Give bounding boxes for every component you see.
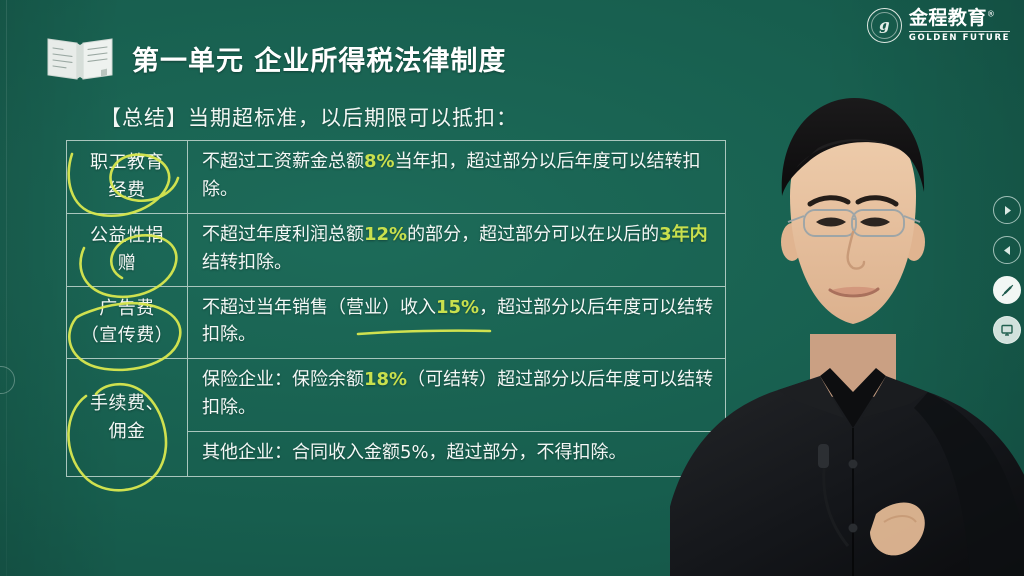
row-label: 公益性捐赠 xyxy=(67,213,188,286)
row-label-line2: 佣金 xyxy=(71,418,183,446)
page-title: 第一单元 企业所得税法律制度 xyxy=(132,39,506,78)
content-text: 的部分，超过部分可以在以后的 xyxy=(407,224,659,245)
row-content: 其他企业：合同收入金额5%，超过部分，不得扣除。 xyxy=(188,432,726,477)
row-content: 不超过工资薪金总额8%当年扣，超过部分以后年度可以结转扣除。 xyxy=(188,141,726,214)
row-label-line2: 经费 xyxy=(71,177,183,205)
table-row: 广告费（宣传费）不超过当年销售（营业）收入15%，超过部分以后年度可以结转扣除。 xyxy=(67,286,726,359)
screen-capture-button[interactable] xyxy=(993,316,1021,344)
brand-emblem-icon: g xyxy=(867,8,902,43)
content-text: 不超过工资薪金总额 xyxy=(202,151,364,172)
deduction-summary-table: 职工教育经费不超过工资薪金总额8%当年扣，超过部分以后年度可以结转扣除。公益性捐… xyxy=(66,140,726,477)
row-label-line1: 手续费、 xyxy=(90,393,164,414)
row-label: 广告费（宣传费） xyxy=(67,286,188,359)
row-content: 不超过当年销售（营业）收入15%，超过部分以后年度可以结转扣除。 xyxy=(188,286,726,359)
pen-annotate-button[interactable] xyxy=(993,276,1021,304)
play-triangle-left-icon xyxy=(1002,245,1013,256)
brand-logo: g 金程教育® GOLDEN FUTURE xyxy=(867,8,1010,43)
slide-header: 第一单元 企业所得税法律制度 xyxy=(44,33,506,83)
slide-subtitle: 【总结】当期超标准，以后期限可以抵扣： xyxy=(100,102,518,132)
highlighted-value: 15% xyxy=(436,297,479,318)
content-text: 不超过年度利润总额 xyxy=(202,224,364,245)
row-label-line1: 公益性捐 xyxy=(90,225,164,246)
row-label-line2: 赠 xyxy=(71,250,183,278)
row-label-line1: 广告费 xyxy=(99,298,155,319)
highlighted-value: 8% xyxy=(364,151,395,172)
row-label-line2: （宣传费） xyxy=(71,322,183,350)
registered-mark: ® xyxy=(987,9,996,18)
slide-controls-toolbar[interactable] xyxy=(993,196,1021,344)
content-text: 结转扣除。 xyxy=(202,252,292,273)
row-content: 不超过年度利润总额12%的部分，超过部分可以在以后的3年内结转扣除。 xyxy=(188,213,726,286)
instructor-video-overlay xyxy=(670,46,1024,576)
highlighted-value: 12% xyxy=(364,224,407,245)
play-triangle-right-icon xyxy=(1002,205,1013,216)
brand-name-cn: 金程教育® xyxy=(909,9,996,28)
row-content: 保险企业：保险余额18%（可结转）超过部分以后年度可以结转扣除。 xyxy=(188,359,726,432)
monitor-icon xyxy=(1000,323,1014,337)
row-label-line1: 职工教育 xyxy=(90,152,164,173)
left-rail-divider xyxy=(6,0,7,576)
table-row: 职工教育经费不超过工资薪金总额8%当年扣，超过部分以后年度可以结转扣除。 xyxy=(67,141,726,214)
row-label: 职工教育经费 xyxy=(67,141,188,214)
prev-slide-button[interactable] xyxy=(993,236,1021,264)
content-text: 其他企业：合同收入金额5%，超过部分，不得扣除。 xyxy=(202,442,627,463)
table-row: 公益性捐赠不超过年度利润总额12%的部分，超过部分可以在以后的3年内结转扣除。 xyxy=(67,213,726,286)
open-book-icon xyxy=(44,33,116,83)
row-label: 手续费、佣金 xyxy=(67,359,188,477)
pen-icon xyxy=(1000,283,1015,298)
brand-name-en: GOLDEN FUTURE xyxy=(909,31,1010,43)
content-text: 保险企业：保险余额 xyxy=(202,369,364,390)
content-text: 不超过当年销售（营业）收入 xyxy=(202,297,436,318)
table-row: 手续费、佣金保险企业：保险余额18%（可结转）超过部分以后年度可以结转扣除。 xyxy=(67,359,726,432)
next-slide-button[interactable] xyxy=(993,196,1021,224)
table-body: 职工教育经费不超过工资薪金总额8%当年扣，超过部分以后年度可以结转扣除。公益性捐… xyxy=(67,141,726,477)
highlighted-value: 18% xyxy=(364,369,407,390)
brand-emblem-letter: g xyxy=(879,18,890,33)
